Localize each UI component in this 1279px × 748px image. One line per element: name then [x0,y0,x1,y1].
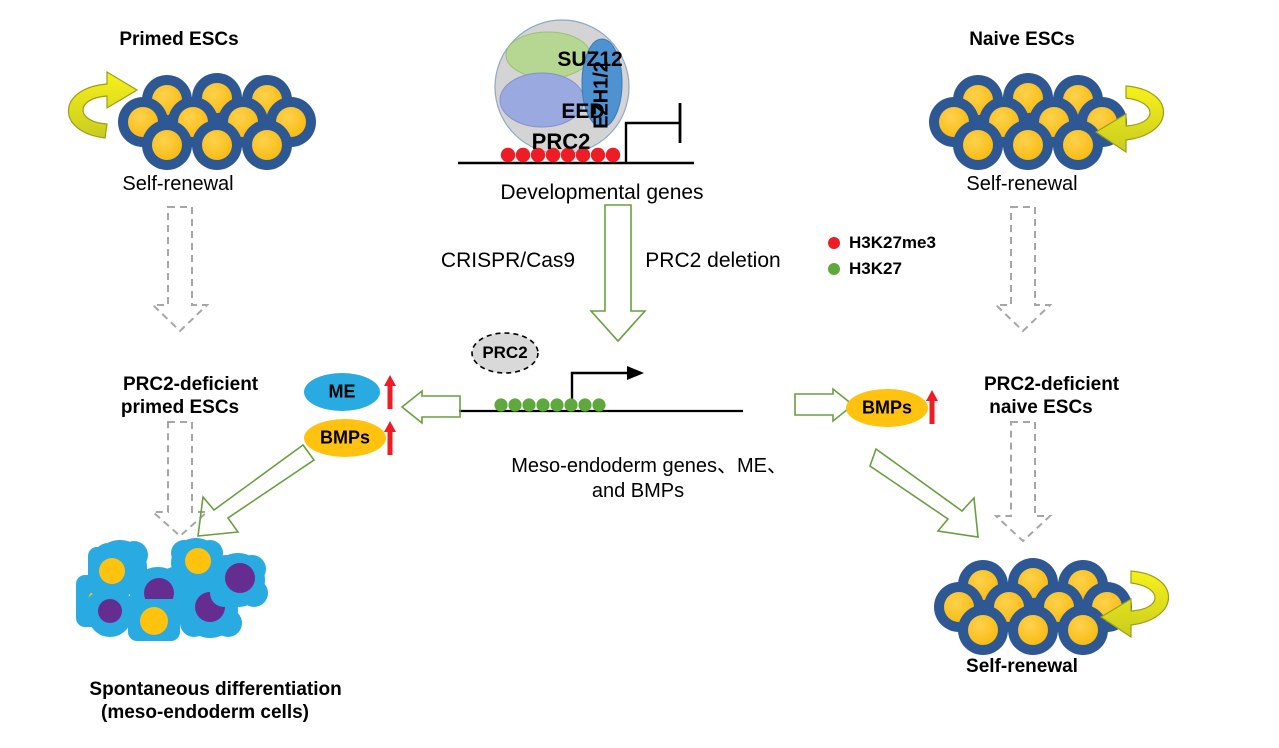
green-arrow-to-me [400,390,462,424]
repression-bar-icon [626,103,680,163]
h3k27-marks [494,398,605,411]
caption-spontaneous-differentiation: Spontaneous differentiation (meso-endode… [68,655,341,748]
page-title-primed: Primed ESCs [119,28,238,51]
legend-item-h3k27me3: H3K27me3 [828,232,936,254]
up-arrow-me-icon [383,375,397,409]
label-crispr-cas9: CRISPR/Cas9 [441,248,575,274]
subunit-eed [500,73,584,127]
colony-naive-esc [920,60,1185,170]
subunit-ezh12 [582,39,622,127]
green-arrow-to-naive-selfrenewal [870,445,985,540]
figure-canvas: Primed ESCs Self-renewal PRC2-deficient … [0,0,1279,720]
dashed-arrow-primed-down [145,205,215,335]
diff-cell [76,538,268,641]
label-self-renewal-naive: Self-renewal [966,172,1077,196]
label-self-renewal-primed: Self-renewal [122,172,233,196]
up-arrow-bmps-left-icon [383,421,397,455]
caption-self-renewal-bottom: Self-renewal [966,655,1078,678]
factor-badge-bmps-left [303,418,387,458]
factor-badge-me [303,372,381,412]
legend-label-h3k27: H3K27 [849,259,902,279]
prc2-complex-diagram [450,15,700,170]
legend-item-h3k27: H3K27 [828,258,936,280]
green-arrow-to-differentiation [190,440,315,550]
up-arrow-bmps-right-icon [925,390,939,424]
label-prc2-deletion: PRC2 deletion [645,248,780,274]
legend-swatch-green-icon [828,263,840,275]
page-title-naive: Naive ESCs [969,28,1075,51]
label-developmental-genes: Developmental genes [500,180,703,206]
legend-label-h3k27me3: H3K27me3 [849,233,936,253]
legend-swatch-red-icon [828,237,840,249]
factor-badge-bmps-right [845,388,929,428]
green-arrow-prc2-deletion [588,203,648,345]
subunit-suz12 [506,32,590,78]
colony-naive-esc-bottom [925,545,1190,655]
colony-differentiated-cells [58,535,283,645]
colony-primed-esc [45,60,315,170]
label-mesoendoderm-genes: Meso-endoderm genes、ME、 and BMPs [489,430,787,528]
gene-active-diagram [455,363,745,418]
dashed-arrow-naive-down [988,205,1058,335]
dashed-arrow-naive-selfrenewal [988,420,1058,545]
legend: H3K27me3 H3K27 [828,232,936,280]
